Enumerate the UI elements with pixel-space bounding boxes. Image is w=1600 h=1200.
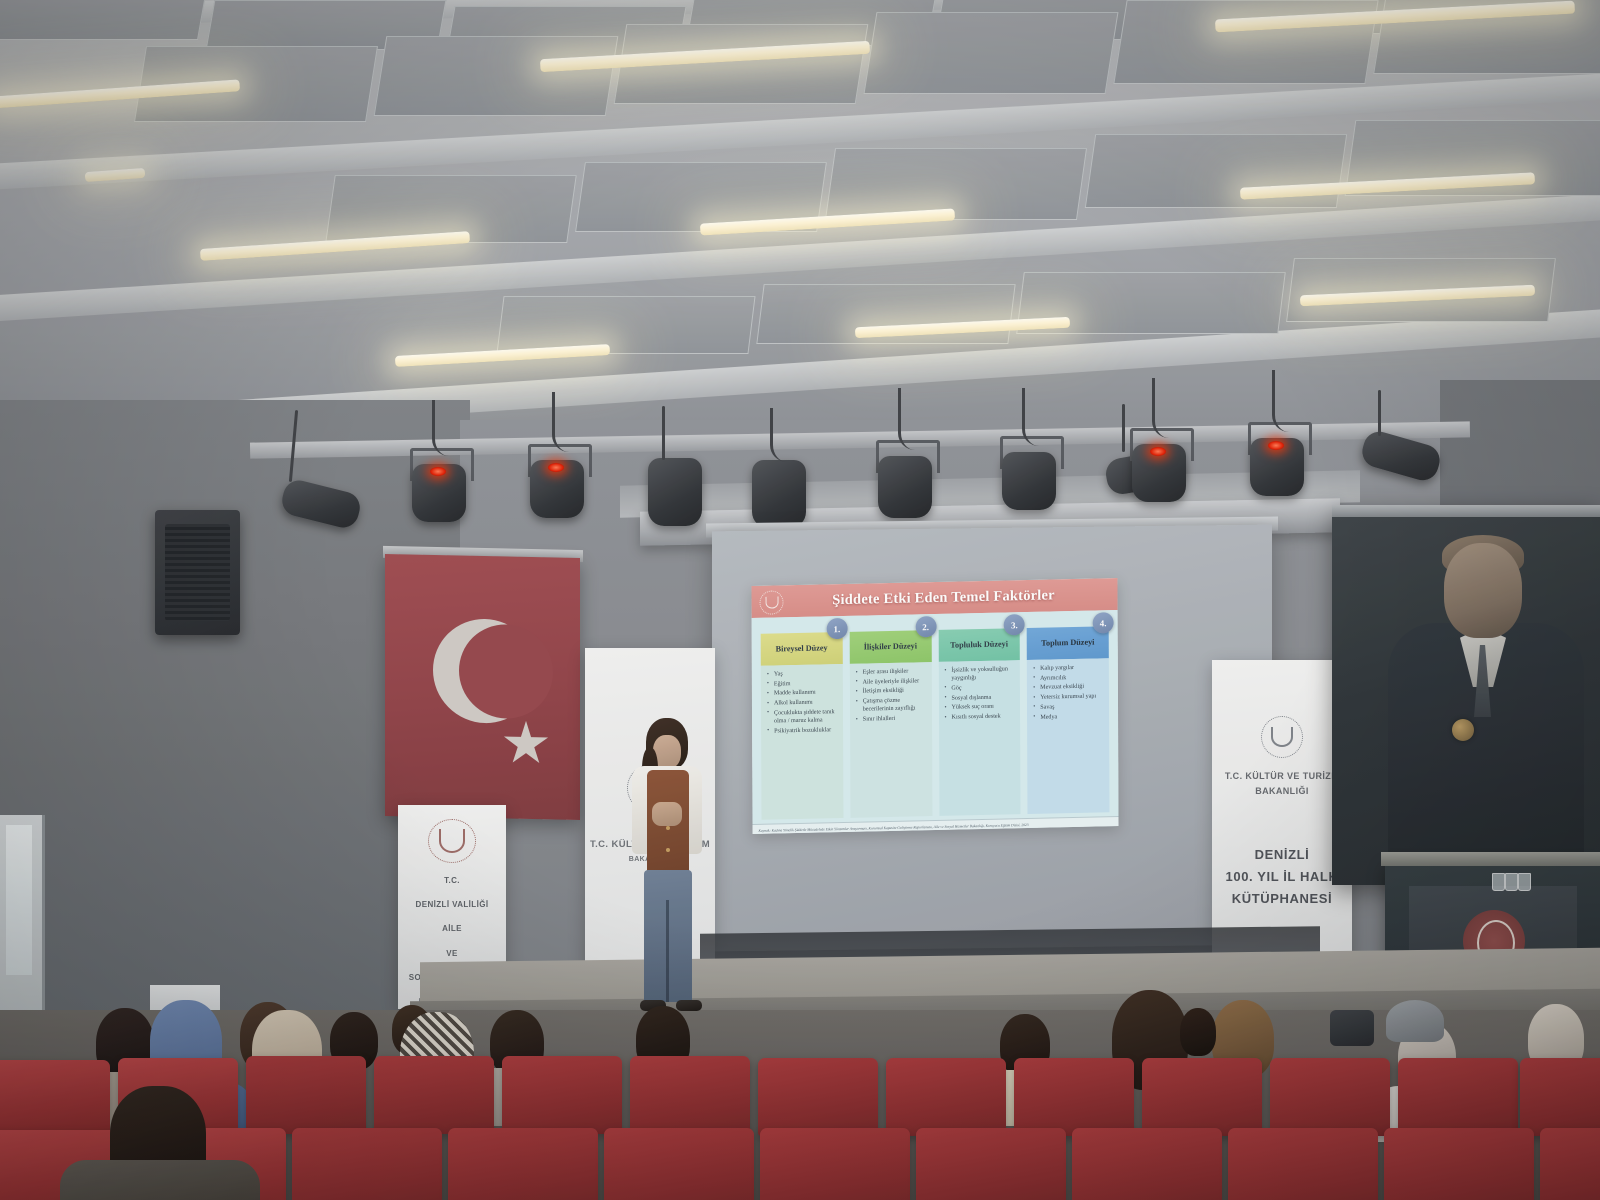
list-item: İşsizlik ve yoksulluğun yaygınlığı: [951, 665, 1016, 683]
auditorium-seat[interactable]: [886, 1058, 1006, 1136]
auditorium-seat[interactable]: [916, 1128, 1066, 1200]
ministry-emblem-icon: [759, 590, 783, 615]
column-badge-2: 2.: [915, 616, 936, 637]
auditorium-seat[interactable]: [1228, 1128, 1378, 1200]
portrait-face: [1444, 543, 1522, 638]
side-door[interactable]: [0, 815, 45, 1025]
list-item: Psikiyatrik bozukluklar: [774, 726, 839, 736]
auditorium-seat[interactable]: [374, 1056, 494, 1134]
conference-hall-photo: Şiddete Etki Eden Temel Faktörler 1. Bir…: [0, 0, 1600, 1200]
auditorium-seat[interactable]: [1072, 1128, 1222, 1200]
water-glass: [1518, 873, 1531, 891]
list-item: Kalıp yargılar: [1040, 663, 1105, 673]
crescent-shape: [433, 618, 537, 724]
banner-left-line-1: T.C.: [444, 875, 460, 887]
portrait-frame-top: [1332, 505, 1600, 517]
presenter-hands: [652, 802, 682, 826]
auditorium-seat[interactable]: [1384, 1128, 1534, 1200]
column-body-4: Kalıp yargılar Ayrımcılık Mevzuat eksikl…: [1027, 658, 1109, 814]
star-shape: [503, 720, 549, 767]
list-item: Savaş: [1040, 702, 1105, 712]
list-item: Sınır ihlalleri: [863, 714, 928, 724]
presentation-slide: Şiddete Etki Eden Temel Faktörler 1. Bir…: [751, 578, 1118, 834]
banner-left-line-3: AİLE: [442, 923, 462, 935]
auditorium-seat[interactable]: [292, 1128, 442, 1200]
list-item: Alkol kullanımı: [774, 698, 839, 708]
list-item: Kısıtlı sosyal destek: [952, 712, 1017, 722]
water-glass: [1505, 873, 1518, 891]
list-item: Sosyal dışlanma: [951, 693, 1016, 703]
banner-left-line-4: VE: [446, 948, 457, 960]
banner-right-venue-line-3: KÜTÜPHANESİ: [1232, 889, 1333, 909]
auditorium-seat[interactable]: [1014, 1058, 1134, 1136]
list-item: Çatışma çözme becerilerinin zayıflığı: [863, 696, 928, 714]
presenter-shoe-right: [676, 1000, 702, 1011]
auditorium-seat[interactable]: [758, 1058, 878, 1136]
list-item: Göç: [951, 683, 1016, 693]
auditorium-seat[interactable]: [502, 1056, 622, 1134]
list-item: Çocuklukta şiddete tanık olma / maruz ka…: [774, 708, 839, 726]
auditorium-seat[interactable]: [246, 1056, 366, 1134]
list-item: Mevzuat eksikliği: [1040, 683, 1105, 693]
water-glass: [1492, 873, 1505, 891]
list-item: Aile üyeleriyle ilişkiler: [863, 677, 928, 687]
table-top-surface: [1381, 852, 1600, 866]
auditorium-seat[interactable]: [1540, 1128, 1600, 1200]
slide-title: Şiddete Etki Eden Temel Faktörler: [751, 586, 1117, 611]
door-glass-panel: [6, 825, 32, 975]
presenter: [620, 718, 712, 1008]
column-body-3: İşsizlik ve yoksulluğun yaygınlığı Göç S…: [938, 660, 1020, 816]
turkish-flag: [385, 554, 580, 820]
banner-right-venue-line-2: 100. YIL İL HALK: [1226, 867, 1339, 887]
banner-right-ministry-line-2: BAKANLIĞI: [1255, 785, 1309, 799]
auditorium-seat[interactable]: [604, 1128, 754, 1200]
auditorium-seat[interactable]: [0, 1060, 110, 1135]
column-body-2: Eşler arası ilişkiler Aile üyeleriyle il…: [850, 662, 932, 818]
ministry-emblem-icon: [428, 819, 476, 863]
list-item: Madde kullanımı: [774, 689, 839, 699]
list-item: Ayrımcılık: [1040, 673, 1105, 683]
auditorium-seat[interactable]: [1520, 1058, 1600, 1136]
banner-left-line-2: DENİZLİ VALİLİĞİ: [416, 899, 489, 911]
auditorium-seat[interactable]: [1142, 1058, 1262, 1136]
list-item: Eşler arası ilişkiler: [863, 667, 928, 677]
audience-head: [1330, 1010, 1374, 1046]
slide-column-1: 1. Bireysel Düzey Yaş Eğitim Madde kulla…: [761, 632, 844, 820]
audience-shoulders: [60, 1160, 260, 1200]
slide-column-2: 2. İlişkiler Düzeyi Eşler arası ilişkile…: [849, 630, 932, 818]
presenter-jeans: [644, 870, 692, 1002]
audience-head: [1180, 1008, 1216, 1056]
list-item: Yetersiz kurumsal yapı: [1040, 692, 1105, 702]
audience-head: [1386, 1000, 1444, 1042]
slide-column-4: 4. Toplum Düzeyi Kalıp yargılar Ayrımcıl…: [1027, 626, 1110, 814]
kultur-turizm-emblem-icon: [1261, 716, 1303, 758]
column-badge-3: 3.: [1004, 614, 1025, 635]
suspended-ceiling: [0, 0, 1600, 430]
list-item: İletişim eksikliği: [863, 687, 928, 697]
slide-columns: 1. Bireysel Düzey Yaş Eğitim Madde kulla…: [752, 610, 1119, 824]
auditorium-seat[interactable]: [1270, 1058, 1390, 1136]
column-badge-4: 4.: [1093, 612, 1114, 633]
column-body-1: Yaş Eğitim Madde kullanımı Alkol kullanı…: [761, 664, 843, 820]
portrait-medal: [1452, 719, 1474, 741]
list-item: Medya: [1040, 712, 1105, 722]
list-item: Eğitim: [774, 679, 839, 689]
wall-loudspeaker: [155, 510, 240, 635]
banner-right-venue-line-1: DENİZLİ: [1255, 845, 1310, 865]
auditorium-seat[interactable]: [448, 1128, 598, 1200]
auditorium-seat[interactable]: [1398, 1058, 1518, 1136]
column-badge-1: 1.: [826, 618, 847, 639]
ataturk-portrait: [1332, 505, 1600, 885]
banner-right-ministry-line-1: T.C. KÜLTÜR VE TURİZM: [1225, 770, 1339, 784]
auditorium-seat[interactable]: [630, 1056, 750, 1134]
list-item: Yaş: [774, 669, 839, 679]
auditorium-seat[interactable]: [760, 1128, 910, 1200]
slide-column-3: 3. Topluluk Düzeyi İşsizlik ve yoksulluğ…: [938, 628, 1021, 816]
list-item: Yüksek suç oranı: [951, 703, 1016, 713]
